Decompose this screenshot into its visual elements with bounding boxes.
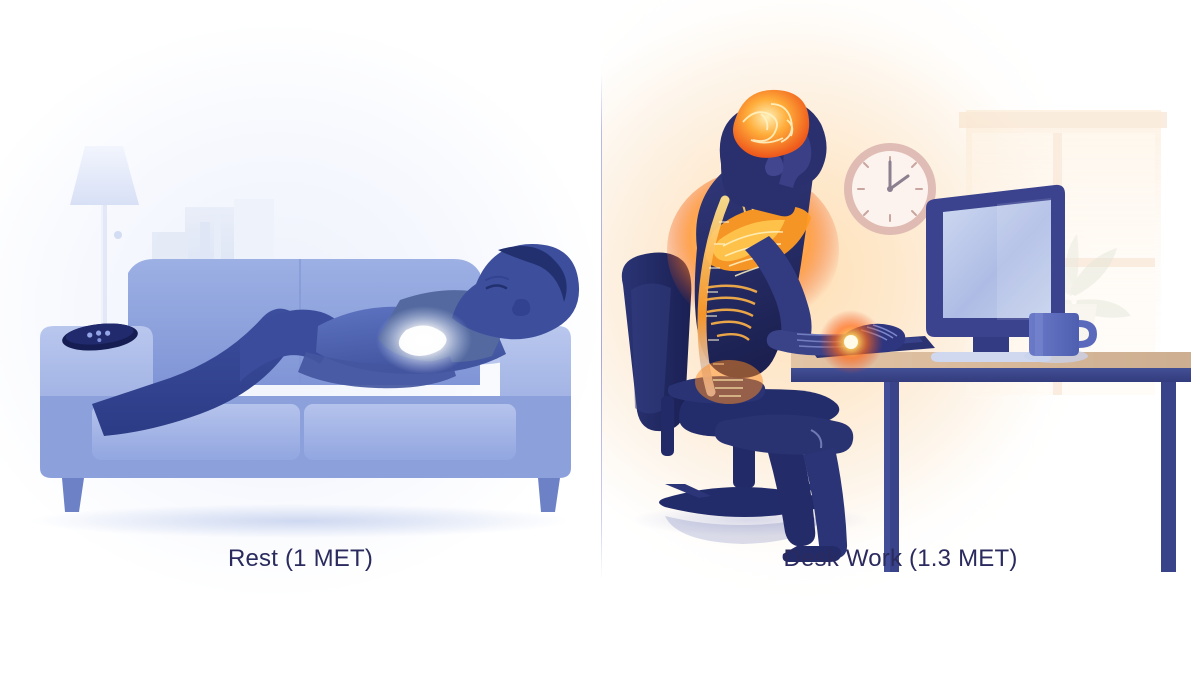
- sofa-floor-shadow: [30, 504, 570, 538]
- wrist-hotspot-core: [844, 335, 858, 349]
- lumbar-strain: [695, 360, 763, 404]
- desk-illustration: [601, 0, 1200, 675]
- chair-arm-post: [661, 396, 674, 456]
- panel-desk: Desk Work (1.3 MET): [601, 0, 1200, 675]
- person-head: [452, 244, 579, 339]
- rest-illustration: [0, 0, 601, 675]
- caption-rest: Rest (1 MET): [0, 545, 601, 573]
- comparison-figure: Rest (1 MET): [0, 0, 1200, 675]
- panel-rest: Rest (1 MET): [0, 0, 601, 675]
- sofa-leg-right: [538, 478, 560, 512]
- wall-clock: [844, 143, 936, 235]
- vertical-divider: [601, 72, 602, 580]
- caption-desk: Desk Work (1.3 MET): [601, 545, 1200, 573]
- sofa-leg-left: [62, 478, 84, 512]
- desk-leg-back: [1161, 382, 1176, 572]
- sofa-cushion-right: [304, 404, 516, 460]
